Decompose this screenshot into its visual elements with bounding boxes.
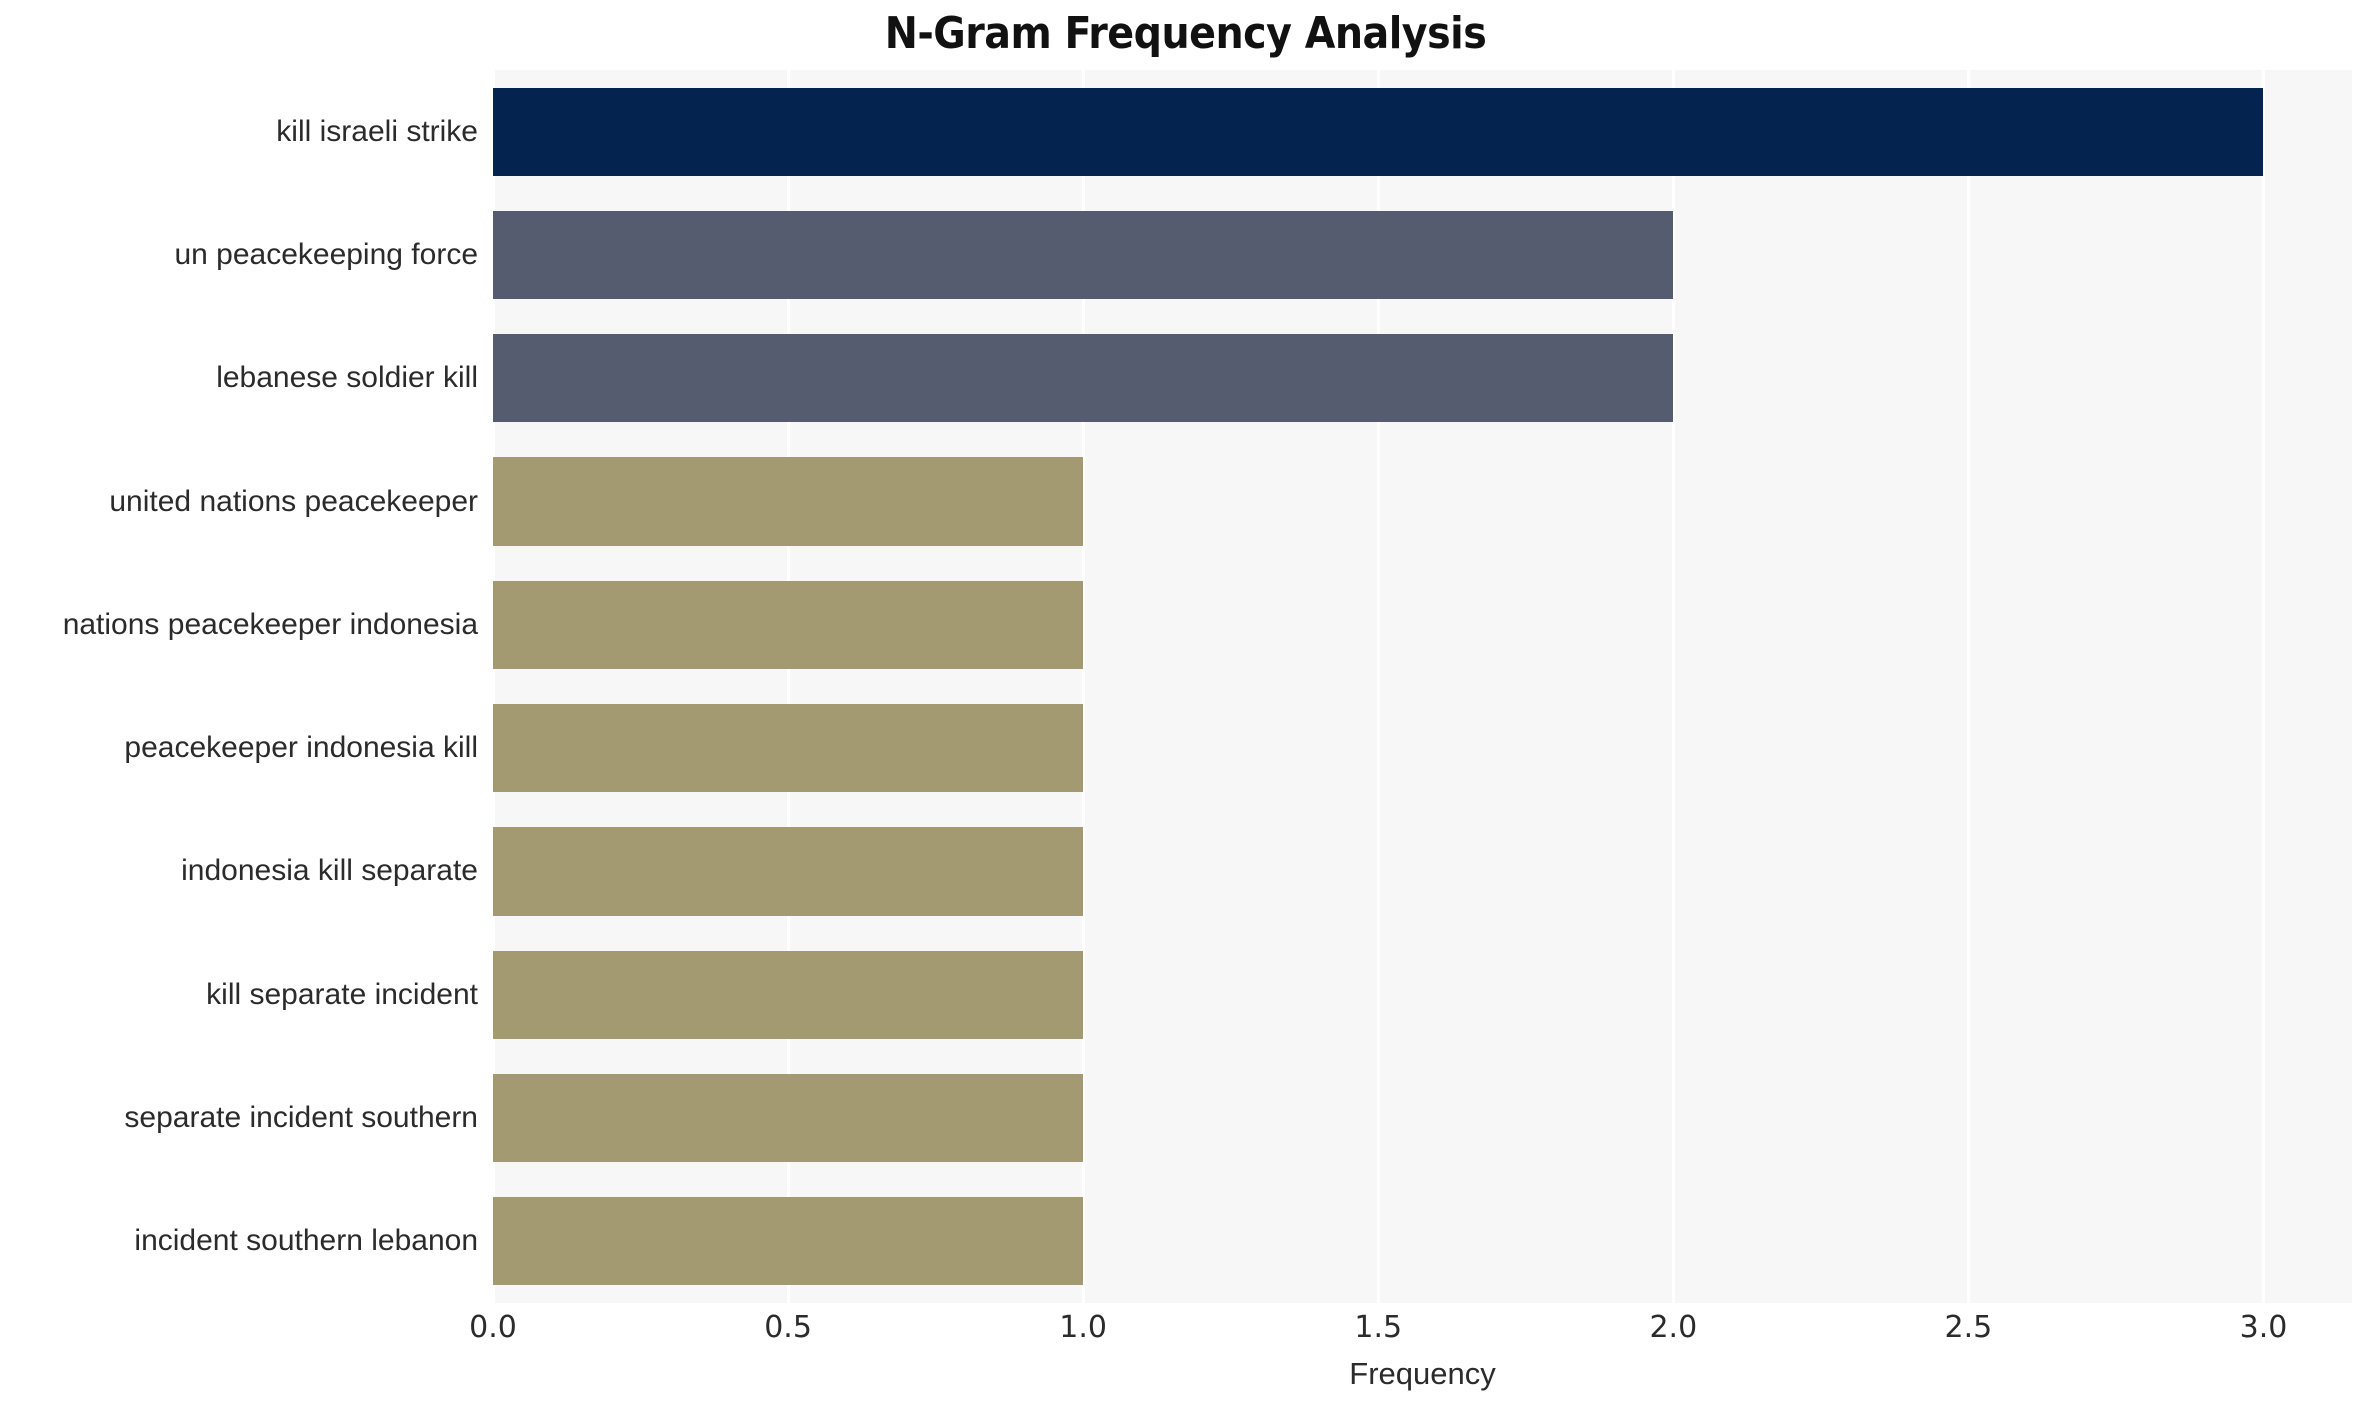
- x-axis-tick-label: 1.0: [1059, 1313, 1107, 1343]
- chart-title: N-Gram Frequency Analysis: [0, 8, 2371, 59]
- bars-container: [493, 70, 2352, 1303]
- y-axis-tick-label: un peacekeeping force: [0, 240, 478, 270]
- bar[interactable]: [493, 1197, 1083, 1285]
- y-axis-tick-label: separate incident southern: [0, 1103, 478, 1133]
- x-axis-tick-label: 1.5: [1354, 1313, 1402, 1343]
- bar[interactable]: [493, 334, 1673, 422]
- x-axis-tick-label: 0.0: [469, 1313, 517, 1343]
- y-axis-tick-label: incident southern lebanon: [0, 1226, 478, 1256]
- x-axis-tick-label: 2.0: [1649, 1313, 1697, 1343]
- x-axis-tick-label: 3.0: [2240, 1313, 2288, 1343]
- y-axis-tick-label: kill separate incident: [0, 980, 478, 1010]
- plot-area: [493, 70, 2352, 1303]
- y-axis-tick-label: kill israeli strike: [0, 117, 478, 147]
- x-axis-tick-label: 0.5: [764, 1313, 812, 1343]
- bar[interactable]: [493, 827, 1083, 915]
- bar[interactable]: [493, 88, 2263, 176]
- bar[interactable]: [493, 211, 1673, 299]
- y-axis-tick-labels: kill israeli strikeun peacekeeping force…: [0, 70, 478, 1303]
- x-axis-tick-label: 2.5: [1945, 1313, 1993, 1343]
- bar[interactable]: [493, 951, 1083, 1039]
- y-axis-tick-label: united nations peacekeeper: [0, 487, 478, 517]
- bar[interactable]: [493, 581, 1083, 669]
- y-axis-tick-label: indonesia kill separate: [0, 856, 478, 886]
- y-axis-tick-label: lebanese soldier kill: [0, 363, 478, 393]
- chart-figure: N-Gram Frequency Analysis kill israeli s…: [0, 0, 2371, 1402]
- bar[interactable]: [493, 457, 1083, 545]
- y-axis-tick-label: nations peacekeeper indonesia: [0, 610, 478, 640]
- y-axis-tick-label: peacekeeper indonesia kill: [0, 733, 478, 763]
- x-axis-title: Frequency: [493, 1356, 2352, 1392]
- bar[interactable]: [493, 704, 1083, 792]
- bar[interactable]: [493, 1074, 1083, 1162]
